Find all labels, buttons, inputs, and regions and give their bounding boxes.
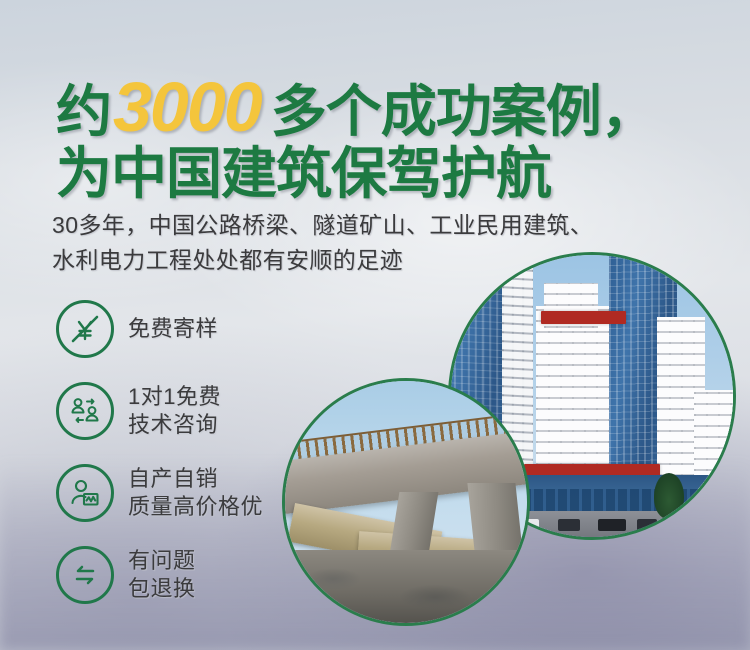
feature-item-one-on-one-consult[interactable]: 1对1免费 技术咨询	[56, 380, 306, 442]
feature-line: 有问题	[128, 547, 196, 575]
headline-line-2: 为中国建筑保驾护航	[56, 145, 656, 202]
feature-item-free-sample[interactable]: 免费寄样	[56, 298, 306, 360]
parked-car	[598, 519, 626, 531]
feature-text: 免费寄样	[128, 315, 218, 343]
self-produce-sell-icon	[56, 464, 114, 522]
headline: 约 3000 多个成功案例， 为中国建筑保驾护航	[56, 72, 656, 203]
feature-line: 质量高价格优	[128, 493, 263, 521]
promo-banner: 约 3000 多个成功案例， 为中国建筑保驾护航 30多年，中国公路桥梁、隧道矿…	[0, 0, 750, 650]
feature-line: 自产自销	[128, 465, 263, 493]
parked-car	[637, 519, 657, 531]
bridge-photo	[282, 378, 530, 626]
free-sample-icon	[56, 300, 114, 358]
headline-line-1: 约 3000 多个成功案例，	[56, 72, 656, 143]
bridge-photo-art	[285, 381, 527, 623]
parked-car	[558, 519, 580, 531]
feature-item-return-exchange[interactable]: 有问题 包退换	[56, 544, 306, 606]
headline-rest: 多个成功案例，	[271, 83, 656, 140]
one-on-one-consult-icon	[56, 382, 114, 440]
feature-line: 免费寄样	[128, 315, 218, 343]
street-tree	[654, 473, 684, 519]
headline-number: 3000	[113, 72, 261, 143]
feature-item-self-produce-sell[interactable]: 自产自销 质量高价格优	[56, 462, 306, 524]
feature-line: 包退换	[128, 575, 196, 603]
feature-list: 免费寄样 1对1免费 技术咨询	[56, 298, 306, 626]
headline-prefix: 约	[56, 83, 111, 140]
feature-text: 有问题 包退换	[128, 547, 196, 603]
feature-text: 1对1免费 技术咨询	[128, 383, 221, 439]
feature-line: 技术咨询	[128, 411, 221, 439]
feature-line: 1对1免费	[128, 383, 221, 411]
construction-ground	[285, 550, 527, 623]
subtitle-line-1: 30多年，中国公路桥梁、隧道矿山、工业民用建筑、	[52, 208, 593, 243]
feature-text: 自产自销 质量高价格优	[128, 465, 263, 521]
rooftop-sign	[541, 311, 626, 324]
return-exchange-icon	[56, 546, 114, 604]
